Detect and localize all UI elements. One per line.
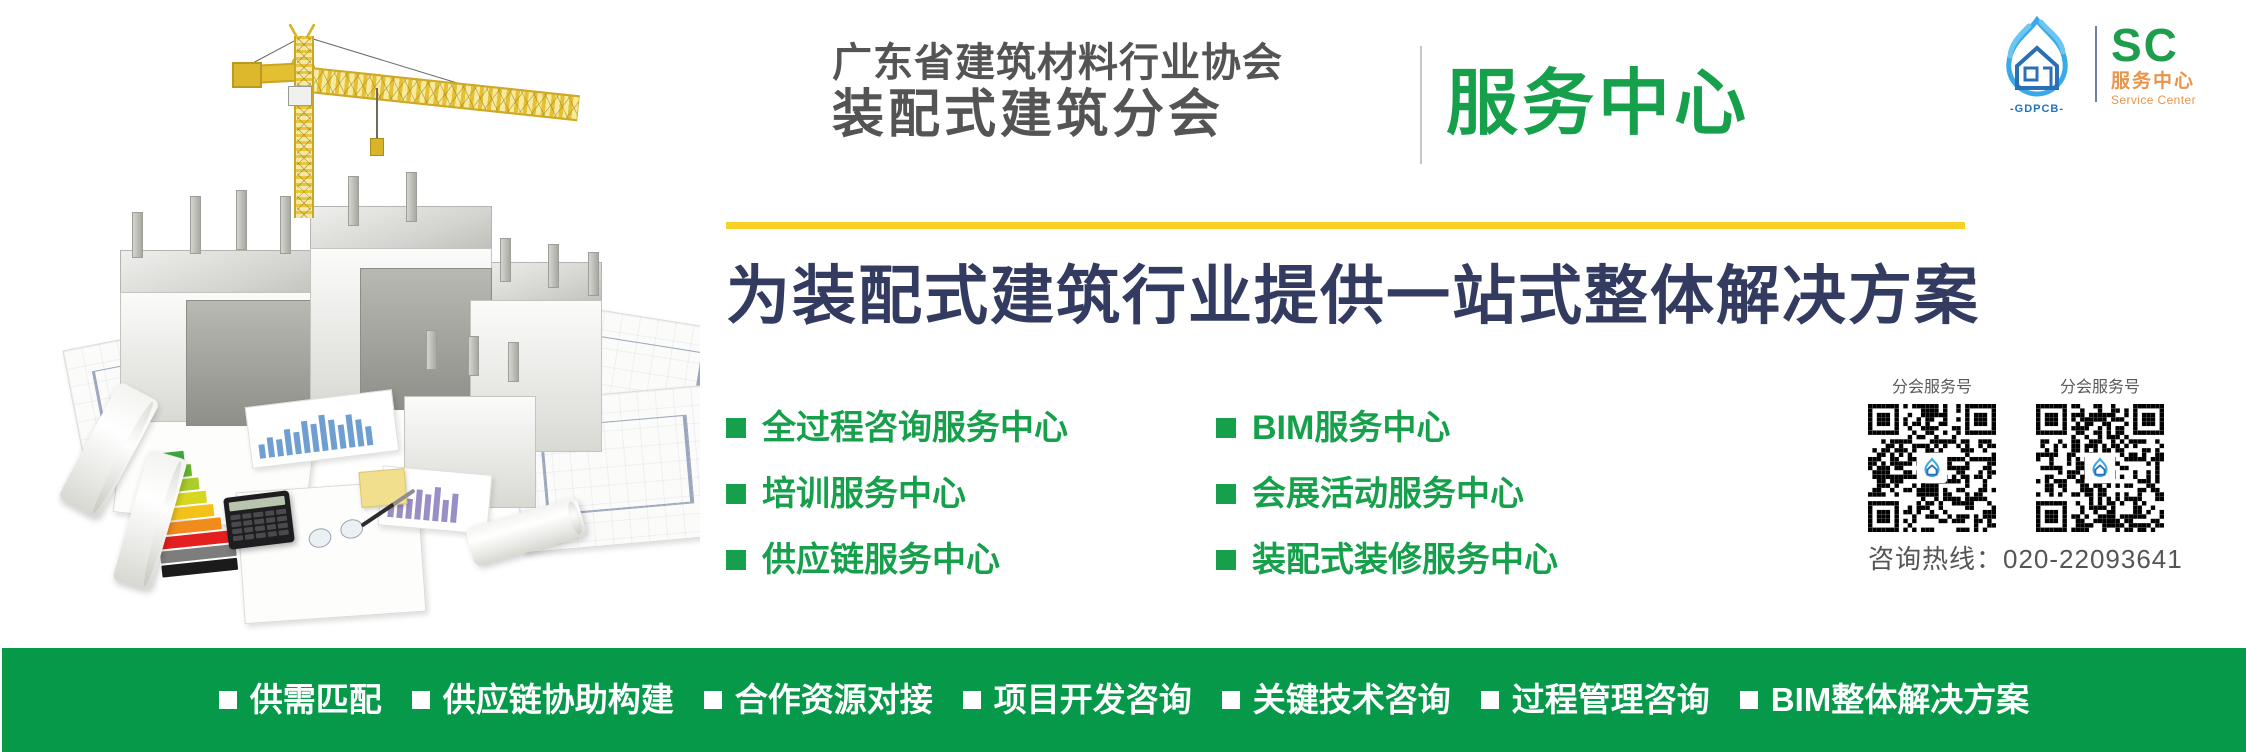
logo-english-label: Service Center <box>2111 93 2237 107</box>
qr-label: 分会服务号 <box>1868 378 1996 398</box>
qr-code-2[interactable] <box>2036 404 2164 532</box>
qr-label: 分会服务号 <box>2036 378 2164 398</box>
square-bullet-icon <box>704 691 722 709</box>
square-bullet-icon <box>1740 691 1758 709</box>
bottom-item-label: 关键技术咨询 <box>1253 680 1451 720</box>
yellow-divider-rule <box>726 222 1965 229</box>
square-bullet-icon <box>726 550 746 570</box>
service-item-full-process-consulting[interactable]: 全过程咨询服务中心 <box>726 408 1068 448</box>
square-bullet-icon <box>1216 418 1236 438</box>
calculator <box>223 490 295 550</box>
crane-cable <box>376 88 378 142</box>
service-item-bim[interactable]: BIM服务中心 <box>1216 408 1558 448</box>
gdpcb-logo-icon <box>2085 453 2115 483</box>
qr-code-1[interactable] <box>1868 404 1996 532</box>
logo-text-block: SC 服务中心 Service Center <box>2111 22 2237 107</box>
bottom-item-supply-demand-matching[interactable]: 供需匹配 <box>219 680 382 720</box>
crane-counterweight <box>232 62 262 88</box>
logo-vertical-divider <box>2095 26 2097 102</box>
construction-site-3d-render <box>0 0 700 640</box>
header-vertical-divider <box>1420 46 1422 164</box>
square-bullet-icon <box>1216 550 1236 570</box>
crane-mast <box>294 36 314 218</box>
promotional-banner: 广东省建筑材料行业协会 装配式建筑分会 服务中心 为装配式建筑行业提供一站式整体… <box>0 0 2246 752</box>
qr-block-1: 分会服务号 <box>1868 378 1996 532</box>
service-item-label: 供应链服务中心 <box>762 540 1000 580</box>
crane-cabin <box>288 86 312 106</box>
bottom-item-label: 项目开发咨询 <box>994 680 1192 720</box>
main-slogan: 为装配式建筑行业提供一站式整体解决方案 <box>726 258 1980 334</box>
square-bullet-icon <box>726 418 746 438</box>
service-item-prefab-decoration[interactable]: 装配式装修服务中心 <box>1216 540 1558 580</box>
hero-stage <box>0 0 700 640</box>
hotline-text: 咨询热线：020-22093641 <box>1868 542 2200 576</box>
square-bullet-icon <box>726 484 746 504</box>
service-item-label: 培训服务中心 <box>762 474 966 514</box>
service-item-label: 装配式装修服务中心 <box>1252 540 1558 580</box>
bottom-item-partner-resource-matching[interactable]: 合作资源对接 <box>704 680 933 720</box>
bottom-item-label: 合作资源对接 <box>735 680 933 720</box>
service-item-label: BIM服务中心 <box>1252 408 1450 448</box>
logo-chinese-label: 服务中心 <box>2111 71 2237 93</box>
service-list-right: BIM服务中心 会展活动服务中心 装配式装修服务中心 <box>1216 408 1558 580</box>
service-item-exhibition[interactable]: 会展活动服务中心 <box>1216 474 1558 514</box>
square-bullet-icon <box>1222 691 1240 709</box>
association-name-line2: 装配式建筑分会 <box>832 86 1392 144</box>
qr-contact-area: 分会服务号 分会服务号 <box>1868 378 2200 576</box>
bottom-item-label: BIM整体解决方案 <box>1771 680 2030 720</box>
service-item-supply-chain[interactable]: 供应链服务中心 <box>726 540 1068 580</box>
gdpcb-caption: -GDPCB- <box>1989 103 2085 115</box>
service-item-label: 会展活动服务中心 <box>1252 474 1524 514</box>
gdpcb-flame-house-icon: -GDPCB- <box>1989 14 2085 114</box>
square-bullet-icon <box>219 691 237 709</box>
service-list-left: 全过程咨询服务中心 培训服务中心 供应链服务中心 <box>726 408 1068 580</box>
gdpcb-logo-icon <box>1917 453 1947 483</box>
bottom-item-label: 供应链协助构建 <box>443 680 674 720</box>
qr-block-2: 分会服务号 <box>2036 378 2164 532</box>
service-center-title: 服务中心 <box>1446 48 1750 160</box>
brand-logo: -GDPCB- SC 服务中心 Service Center <box>1989 12 2237 116</box>
logo-sc-initials: SC <box>2111 22 2237 68</box>
bottom-item-process-management-consulting[interactable]: 过程管理咨询 <box>1481 680 1710 720</box>
association-name: 广东省建筑材料行业协会 装配式建筑分会 <box>832 40 1392 144</box>
square-bullet-icon <box>1481 691 1499 709</box>
square-bullet-icon <box>412 691 430 709</box>
bottom-item-key-technology-consulting[interactable]: 关键技术咨询 <box>1222 680 1451 720</box>
square-bullet-icon <box>1216 484 1236 504</box>
bottom-item-project-development-consulting[interactable]: 项目开发咨询 <box>963 680 1192 720</box>
crane-jib <box>299 66 580 121</box>
bottom-item-label: 过程管理咨询 <box>1512 680 1710 720</box>
qr-row: 分会服务号 分会服务号 <box>1868 378 2200 532</box>
header-block: 广东省建筑材料行业协会 装配式建筑分会 服务中心 <box>832 40 1952 170</box>
association-name-line1: 广东省建筑材料行业协会 <box>832 40 1392 86</box>
crane-hook <box>370 138 384 156</box>
bottom-item-supply-chain-assistance[interactable]: 供应链协助构建 <box>412 680 674 720</box>
service-item-label: 全过程咨询服务中心 <box>762 408 1068 448</box>
service-item-training[interactable]: 培训服务中心 <box>726 474 1068 514</box>
bottom-service-bar: 供需匹配 供应链协助构建 合作资源对接 项目开发咨询 关键技术咨询 过程管理咨询… <box>2 648 2246 752</box>
bottom-item-bim-total-solution[interactable]: BIM整体解决方案 <box>1740 680 2030 720</box>
service-center-lists: 全过程咨询服务中心 培训服务中心 供应链服务中心 BIM服务中心 会展活动服务中… <box>726 408 1846 580</box>
square-bullet-icon <box>963 691 981 709</box>
bottom-item-label: 供需匹配 <box>250 680 382 720</box>
